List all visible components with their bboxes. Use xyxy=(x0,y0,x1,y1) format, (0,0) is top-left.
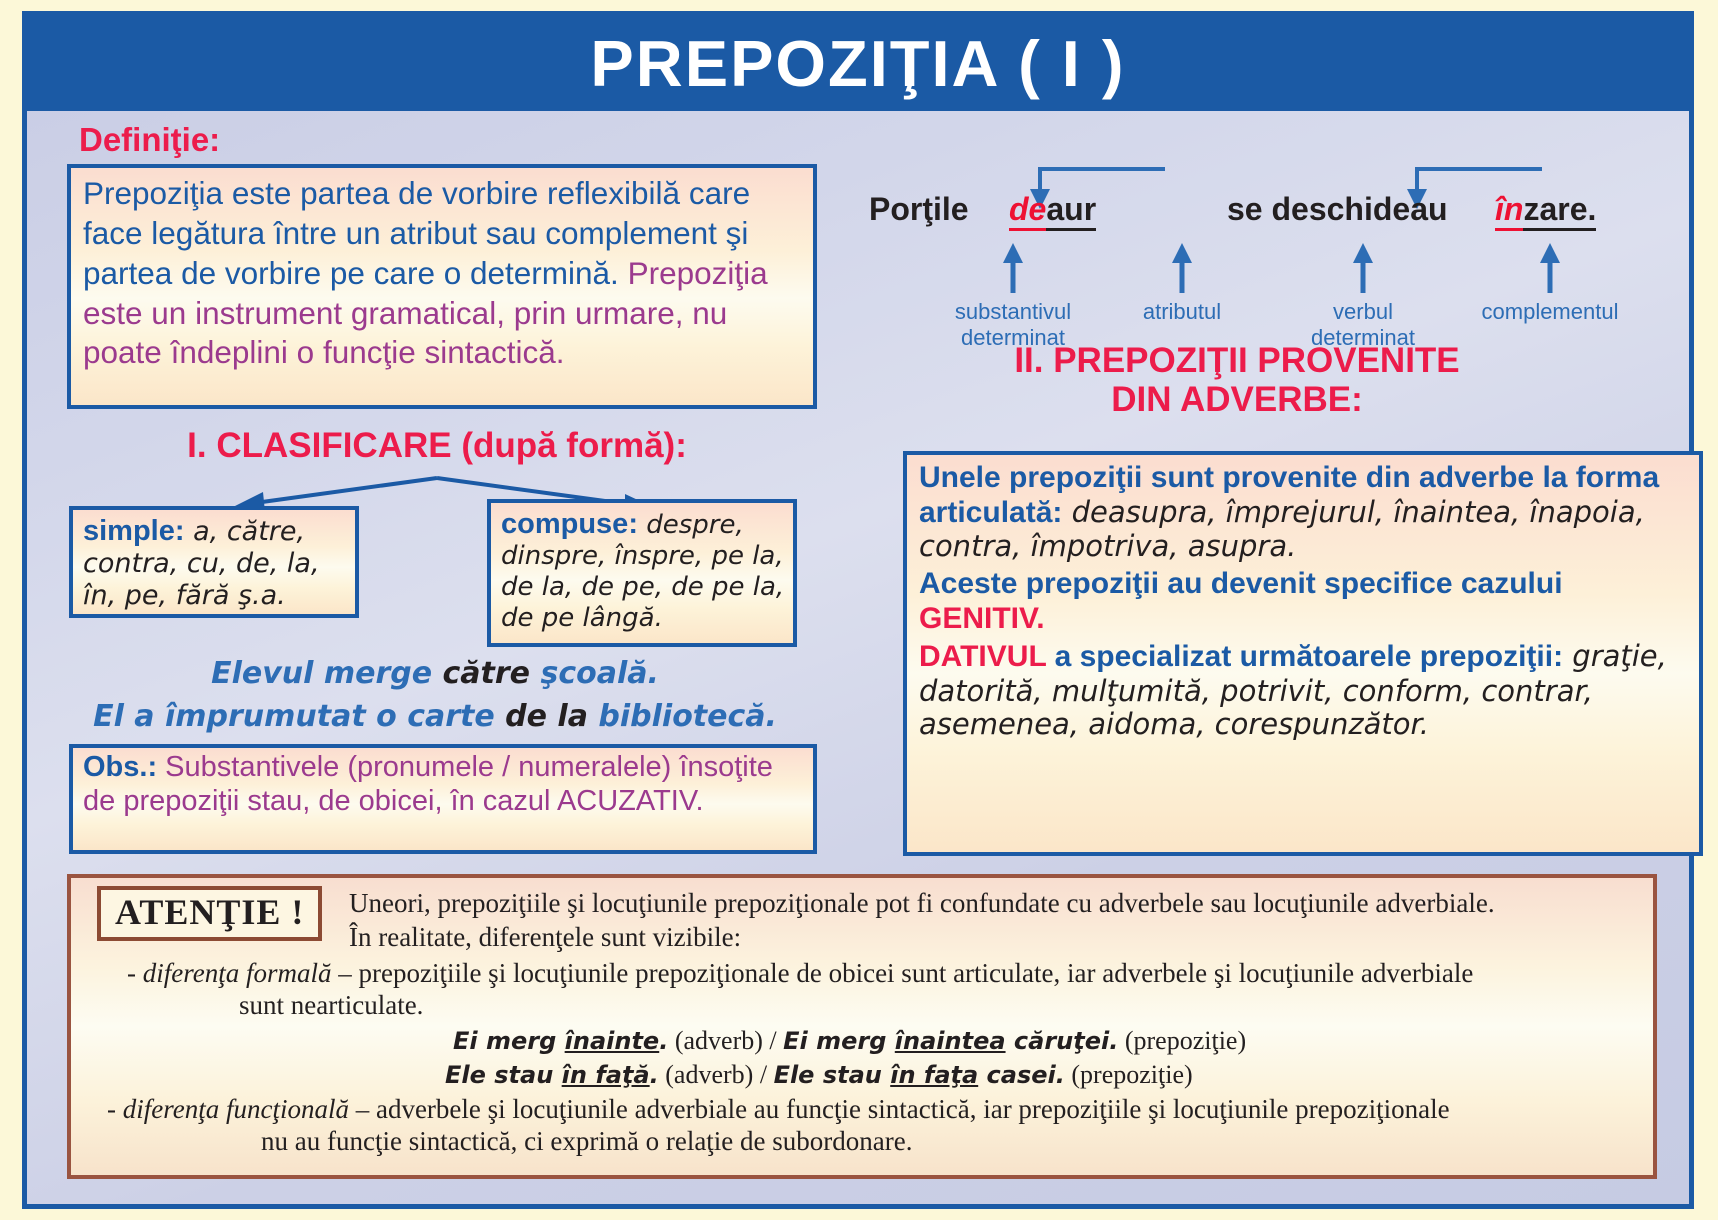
attention-ex2-separator: / xyxy=(753,1060,773,1089)
compound-prepositions-box: compuse: despre, dinspre, înspre, pe la,… xyxy=(487,499,797,647)
observation-text: Obs.: Substantivele (pronumele / numeral… xyxy=(83,751,803,819)
attention-box: ATENŢIE ! Uneori, prepoziţiile şi locuţi… xyxy=(67,874,1657,1179)
sentence-word-1: Porţile xyxy=(869,191,969,228)
sentence-word-2-text: aur xyxy=(1046,191,1096,231)
simple-examples-3: în, pe, fără ş.a. xyxy=(83,580,345,612)
sentence-word-3: se deschideau xyxy=(1227,191,1448,228)
attention-ex1-separator: / xyxy=(763,1026,783,1055)
definition-box: Prepoziţia este partea de vorbire reflex… xyxy=(67,164,817,409)
example-1-before: Elevul merge xyxy=(211,656,442,691)
adverb-prepositions-box: Unele prepoziţii sunt provenite din adve… xyxy=(903,451,1703,856)
adverb-para-1: Unele prepoziţii sunt provenite din adve… xyxy=(919,461,1687,563)
observation-box: Obs.: Substantivele (pronumele / numeral… xyxy=(69,744,817,854)
attention-ex2b-tag: (prepoziţie) xyxy=(1065,1060,1193,1089)
definition-text: Prepoziţia este partea de vorbire reflex… xyxy=(83,174,801,373)
section2-heading-line2: DIN ADVERBE: xyxy=(857,380,1617,419)
attention-line-6: nu au funcţie sintactică, ci exprimă o r… xyxy=(261,1126,912,1157)
sentence-prep-in: în xyxy=(1495,191,1523,231)
attention-line-5: - diferenţa funcţională – adverbele şi l… xyxy=(107,1094,1450,1125)
attention-tag: ATENŢIE ! xyxy=(97,886,322,941)
classification-heading: I. CLASIFICARE (după formă): xyxy=(67,426,807,466)
sentence-word-4: înzare. xyxy=(1495,191,1596,228)
page-title: PREPOZIŢIA ( I ) xyxy=(590,26,1125,101)
sentence-prep-de: de xyxy=(1009,191,1046,231)
attention-ex1a-underlined: înainte xyxy=(565,1027,660,1055)
attention-ex2a-dot: . xyxy=(650,1061,659,1089)
observation-key: Obs.: xyxy=(83,751,157,783)
attention-line-3: - diferenţa formală – prepoziţiile şi lo… xyxy=(127,958,1473,989)
attention-line-4: sunt nearticulate. xyxy=(239,990,423,1021)
attention-ex1b-tag: (prepoziţie) xyxy=(1118,1026,1246,1055)
definition-label: Definiţie: xyxy=(79,121,220,159)
sentence-tag-3-line1: verbul xyxy=(1293,299,1433,325)
compuse-examples-3: de la, de pe, de pe la, xyxy=(501,572,783,603)
simple-examples-2: contra, cu, de, la, xyxy=(83,548,345,580)
attention-example-1: Ei merg înainte. (adverb) / Ei merg înai… xyxy=(453,1026,1246,1056)
sentence-tag-4: complementul xyxy=(1460,299,1640,325)
dativ-label: DATIVUL xyxy=(919,640,1046,673)
compuse-line-1: compuse: despre, xyxy=(501,507,783,541)
sentence-analysis: Porţile deaur se deschideau înzare. subs… xyxy=(847,131,1607,331)
example-1-prep: către xyxy=(443,656,531,691)
sentence-tag-2: atributul xyxy=(1112,299,1252,325)
observation-body: Substantivele (pronumele / numeralele) î… xyxy=(83,751,773,817)
sentence-word-2: deaur xyxy=(1009,191,1096,228)
attention-ex1b-underlined: înaintea xyxy=(895,1027,1006,1055)
adverb-para-3-bold: a specializat următoarele prepoziţii: xyxy=(1046,640,1563,673)
attention-ex2a-before: Ele stau xyxy=(445,1061,562,1089)
poster-frame: PREPOZIŢIA ( I ) Definiţie: Prepoziţia e… xyxy=(22,11,1694,1209)
example-1-after: şcoală. xyxy=(530,656,659,691)
section2-heading: II. PREPOZIŢII PROVENITE DIN ADVERBE: xyxy=(857,341,1617,419)
attention-ex1a-tag: (adverb) xyxy=(668,1026,763,1055)
attention-ex2b-rest: casei. xyxy=(978,1061,1065,1089)
example-2-prep: de la xyxy=(505,699,588,734)
example-2-after: bibliotecă. xyxy=(588,699,777,734)
genitiv-label: GENITIV. xyxy=(919,602,1045,635)
attention-line-1: Uneori, prepoziţiile şi locuţiunile prep… xyxy=(349,888,1495,919)
sentence-word-1-text: Porţile xyxy=(869,191,969,227)
classification-example-2: El a împrumutat o carte de la bibliotecă… xyxy=(65,699,805,734)
adverb-para-2-bold: Aceste prepoziţii au devenit specifice c… xyxy=(919,567,1563,600)
attention-line-5-rest: – adverbele şi locuţiunile adverbiale au… xyxy=(349,1094,1450,1124)
sentence-word-4-text: zare. xyxy=(1523,191,1596,231)
attention-line-5-italic: - diferenţa funcţională xyxy=(107,1094,349,1124)
simple-key: simple: xyxy=(83,515,185,547)
adverb-para-2: Aceste prepoziţii au devenit specifice c… xyxy=(919,567,1687,636)
simple-prepositions-box: simple: a, către, contra, cu, de, la, în… xyxy=(69,506,359,618)
attention-ex2a-underlined: în faţă xyxy=(562,1061,650,1089)
sentence-tag-4-line1: complementul xyxy=(1460,299,1640,325)
attention-ex2b-underlined: în faţa xyxy=(890,1061,978,1089)
attention-ex2a-tag: (adverb) xyxy=(659,1060,754,1089)
attention-ex1b-rest: căruţei. xyxy=(1006,1027,1119,1055)
compuse-examples-1: despre, xyxy=(638,510,744,540)
attention-line-3-italic: - diferenţa formală xyxy=(127,958,331,988)
compuse-examples-4: de pe lângă. xyxy=(501,603,783,634)
sentence-tag-2-line1: atributul xyxy=(1112,299,1252,325)
attention-ex1a-before: Ei merg xyxy=(453,1027,565,1055)
attention-line-2: În realitate, diferenţele sunt vizibile: xyxy=(349,922,741,953)
attention-example-2: Ele stau în faţă. (adverb) / Ele stau în… xyxy=(445,1060,1193,1090)
sentence-tag-1-line1: substantivul xyxy=(933,299,1093,325)
attention-ex2b-before: Ele stau xyxy=(774,1061,891,1089)
title-bar: PREPOZIŢIA ( I ) xyxy=(27,16,1689,111)
adverb-para-3: DATIVUL a specializat următoarele prepoz… xyxy=(919,640,1687,741)
classification-example-1: Elevul merge către şcoală. xyxy=(65,656,805,691)
sentence-word-3-text: se deschideau xyxy=(1227,191,1448,227)
attention-ex1b-before: Ei merg xyxy=(783,1027,895,1055)
attention-line-3-rest: – prepoziţiile şi locuţiunile prepoziţio… xyxy=(331,958,1473,988)
example-2-before: El a împrumutat o carte xyxy=(93,699,505,734)
simple-examples-1: a, către, xyxy=(185,516,306,547)
poster: PREPOZIŢIA ( I ) Definiţie: Prepoziţia e… xyxy=(0,0,1718,1220)
compuse-examples-2: dinspre, înspre, pe la, xyxy=(501,541,783,572)
simple-line-1: simple: a, către, xyxy=(83,514,345,548)
compuse-key: compuse: xyxy=(501,508,638,540)
section2-heading-line1: II. PREPOZIŢII PROVENITE xyxy=(857,341,1617,380)
attention-ex1a-dot: . xyxy=(659,1027,668,1055)
